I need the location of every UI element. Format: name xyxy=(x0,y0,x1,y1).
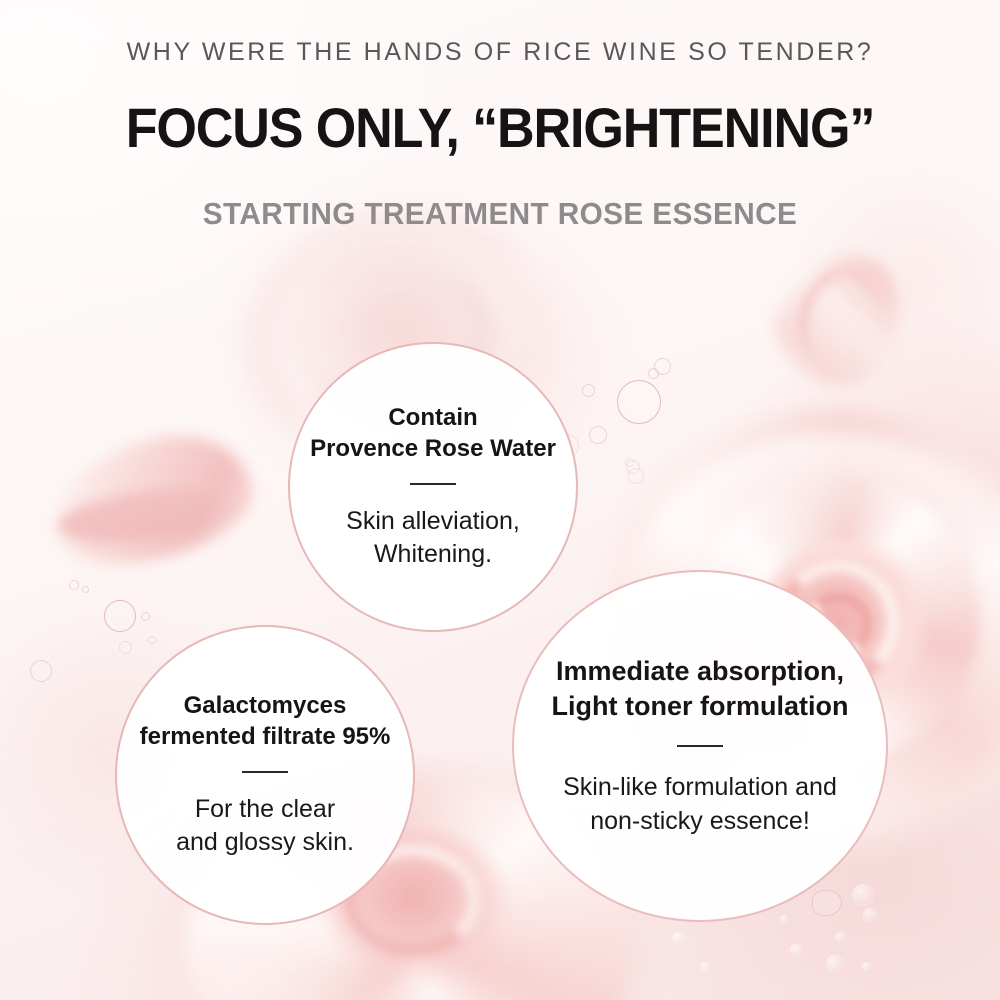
water-bubble xyxy=(626,460,640,474)
feature-description: Skin alleviation, Whitening. xyxy=(346,505,520,571)
water-droplet xyxy=(863,908,877,922)
rose-petal-top-right-rim xyxy=(785,257,893,375)
product-name: STARTING TREATMENT ROSE ESSENCE xyxy=(20,196,980,232)
feature-description: For the clear and glossy skin. xyxy=(176,793,354,859)
water-bubble xyxy=(812,890,842,916)
rose-petal-left xyxy=(42,420,262,577)
product-detail-banner: WHY WERE THE HANDS OF RICE WINE SO TENDE… xyxy=(0,0,1000,1000)
water-bubble xyxy=(119,641,132,654)
water-droplet xyxy=(780,915,788,923)
feature-divider xyxy=(410,483,456,485)
feature-divider xyxy=(242,771,288,773)
water-droplet xyxy=(835,932,845,942)
water-bubble xyxy=(582,384,595,397)
water-bubble xyxy=(104,600,136,632)
water-bubble xyxy=(30,660,52,682)
water-bubble xyxy=(628,468,644,484)
water-droplet xyxy=(826,955,843,972)
feature-circle-galactomyces: Galactomyces fermented filtrate 95% For … xyxy=(115,625,415,925)
water-droplet xyxy=(790,944,802,956)
eyebrow-text: WHY WERE THE HANDS OF RICE WINE SO TENDE… xyxy=(0,38,1000,67)
water-bubble xyxy=(82,586,89,593)
water-bubble xyxy=(617,380,661,424)
rose-petal-left-rim xyxy=(56,481,237,550)
feature-title: Galactomyces fermented filtrate 95% xyxy=(140,691,391,751)
feature-divider xyxy=(677,745,723,747)
water-bubble xyxy=(141,612,150,621)
feature-circle-rose-water: Contain Provence Rose Water Skin allevia… xyxy=(288,342,578,632)
rose-petal-top-right xyxy=(760,234,921,403)
page-title: FOCUS ONLY, “BRIGHTENING” xyxy=(35,95,965,160)
water-droplet xyxy=(672,932,685,945)
water-bubble xyxy=(625,458,634,467)
water-bubble xyxy=(589,426,607,444)
feature-title: Immediate absorption, Light toner formul… xyxy=(552,654,849,723)
water-droplet xyxy=(852,884,874,906)
feature-circle-absorption: Immediate absorption, Light toner formul… xyxy=(512,570,888,922)
water-droplet xyxy=(700,962,709,971)
water-bubble xyxy=(148,636,156,644)
feature-title: Contain Provence Rose Water xyxy=(310,403,556,463)
water-bubble xyxy=(648,368,659,379)
water-bubble xyxy=(69,580,79,590)
water-bubble xyxy=(654,358,671,375)
water-droplet xyxy=(862,962,871,971)
feature-description: Skin-like formulation and non-sticky ess… xyxy=(563,771,837,838)
